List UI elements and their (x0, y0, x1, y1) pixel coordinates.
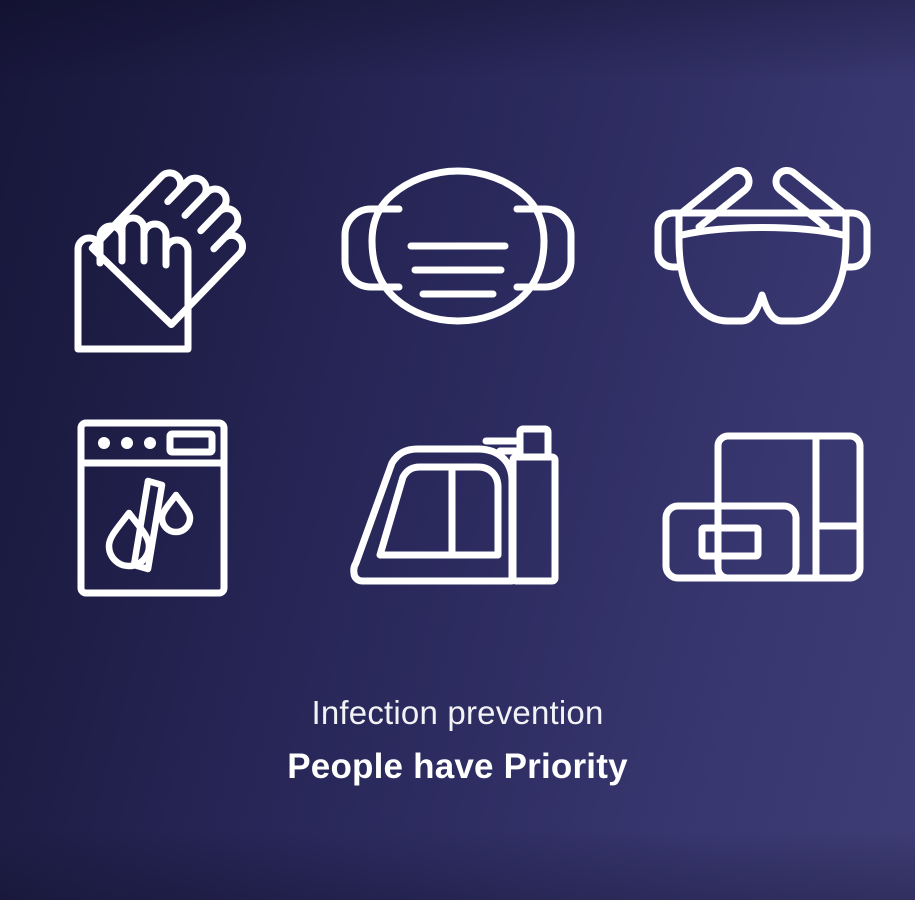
icon-cell-steam-sterilizer (305, 378, 610, 638)
icon-cell-face-mask (305, 118, 610, 378)
icon-cell-sterile-containers (610, 378, 915, 638)
caption-line-primary: Infection prevention (0, 690, 915, 736)
washer-disinfector-icon (65, 413, 240, 603)
caption-block: Infection prevention People have Priorit… (0, 690, 915, 792)
poster: Infection prevention People have Priorit… (0, 0, 915, 900)
protective-gloves-icon (58, 153, 248, 343)
icon-cell-washer-disinfector (0, 378, 305, 638)
icon-grid (0, 118, 915, 638)
sterile-containers-icon (660, 428, 865, 588)
face-mask-icon (333, 153, 583, 343)
safety-goggles-icon (655, 153, 870, 343)
icon-cell-protective-gloves (0, 118, 305, 378)
caption-line-tagline: People have Priority (0, 742, 915, 792)
steam-sterilizer-icon (340, 421, 575, 596)
icon-cell-safety-goggles (610, 118, 915, 378)
